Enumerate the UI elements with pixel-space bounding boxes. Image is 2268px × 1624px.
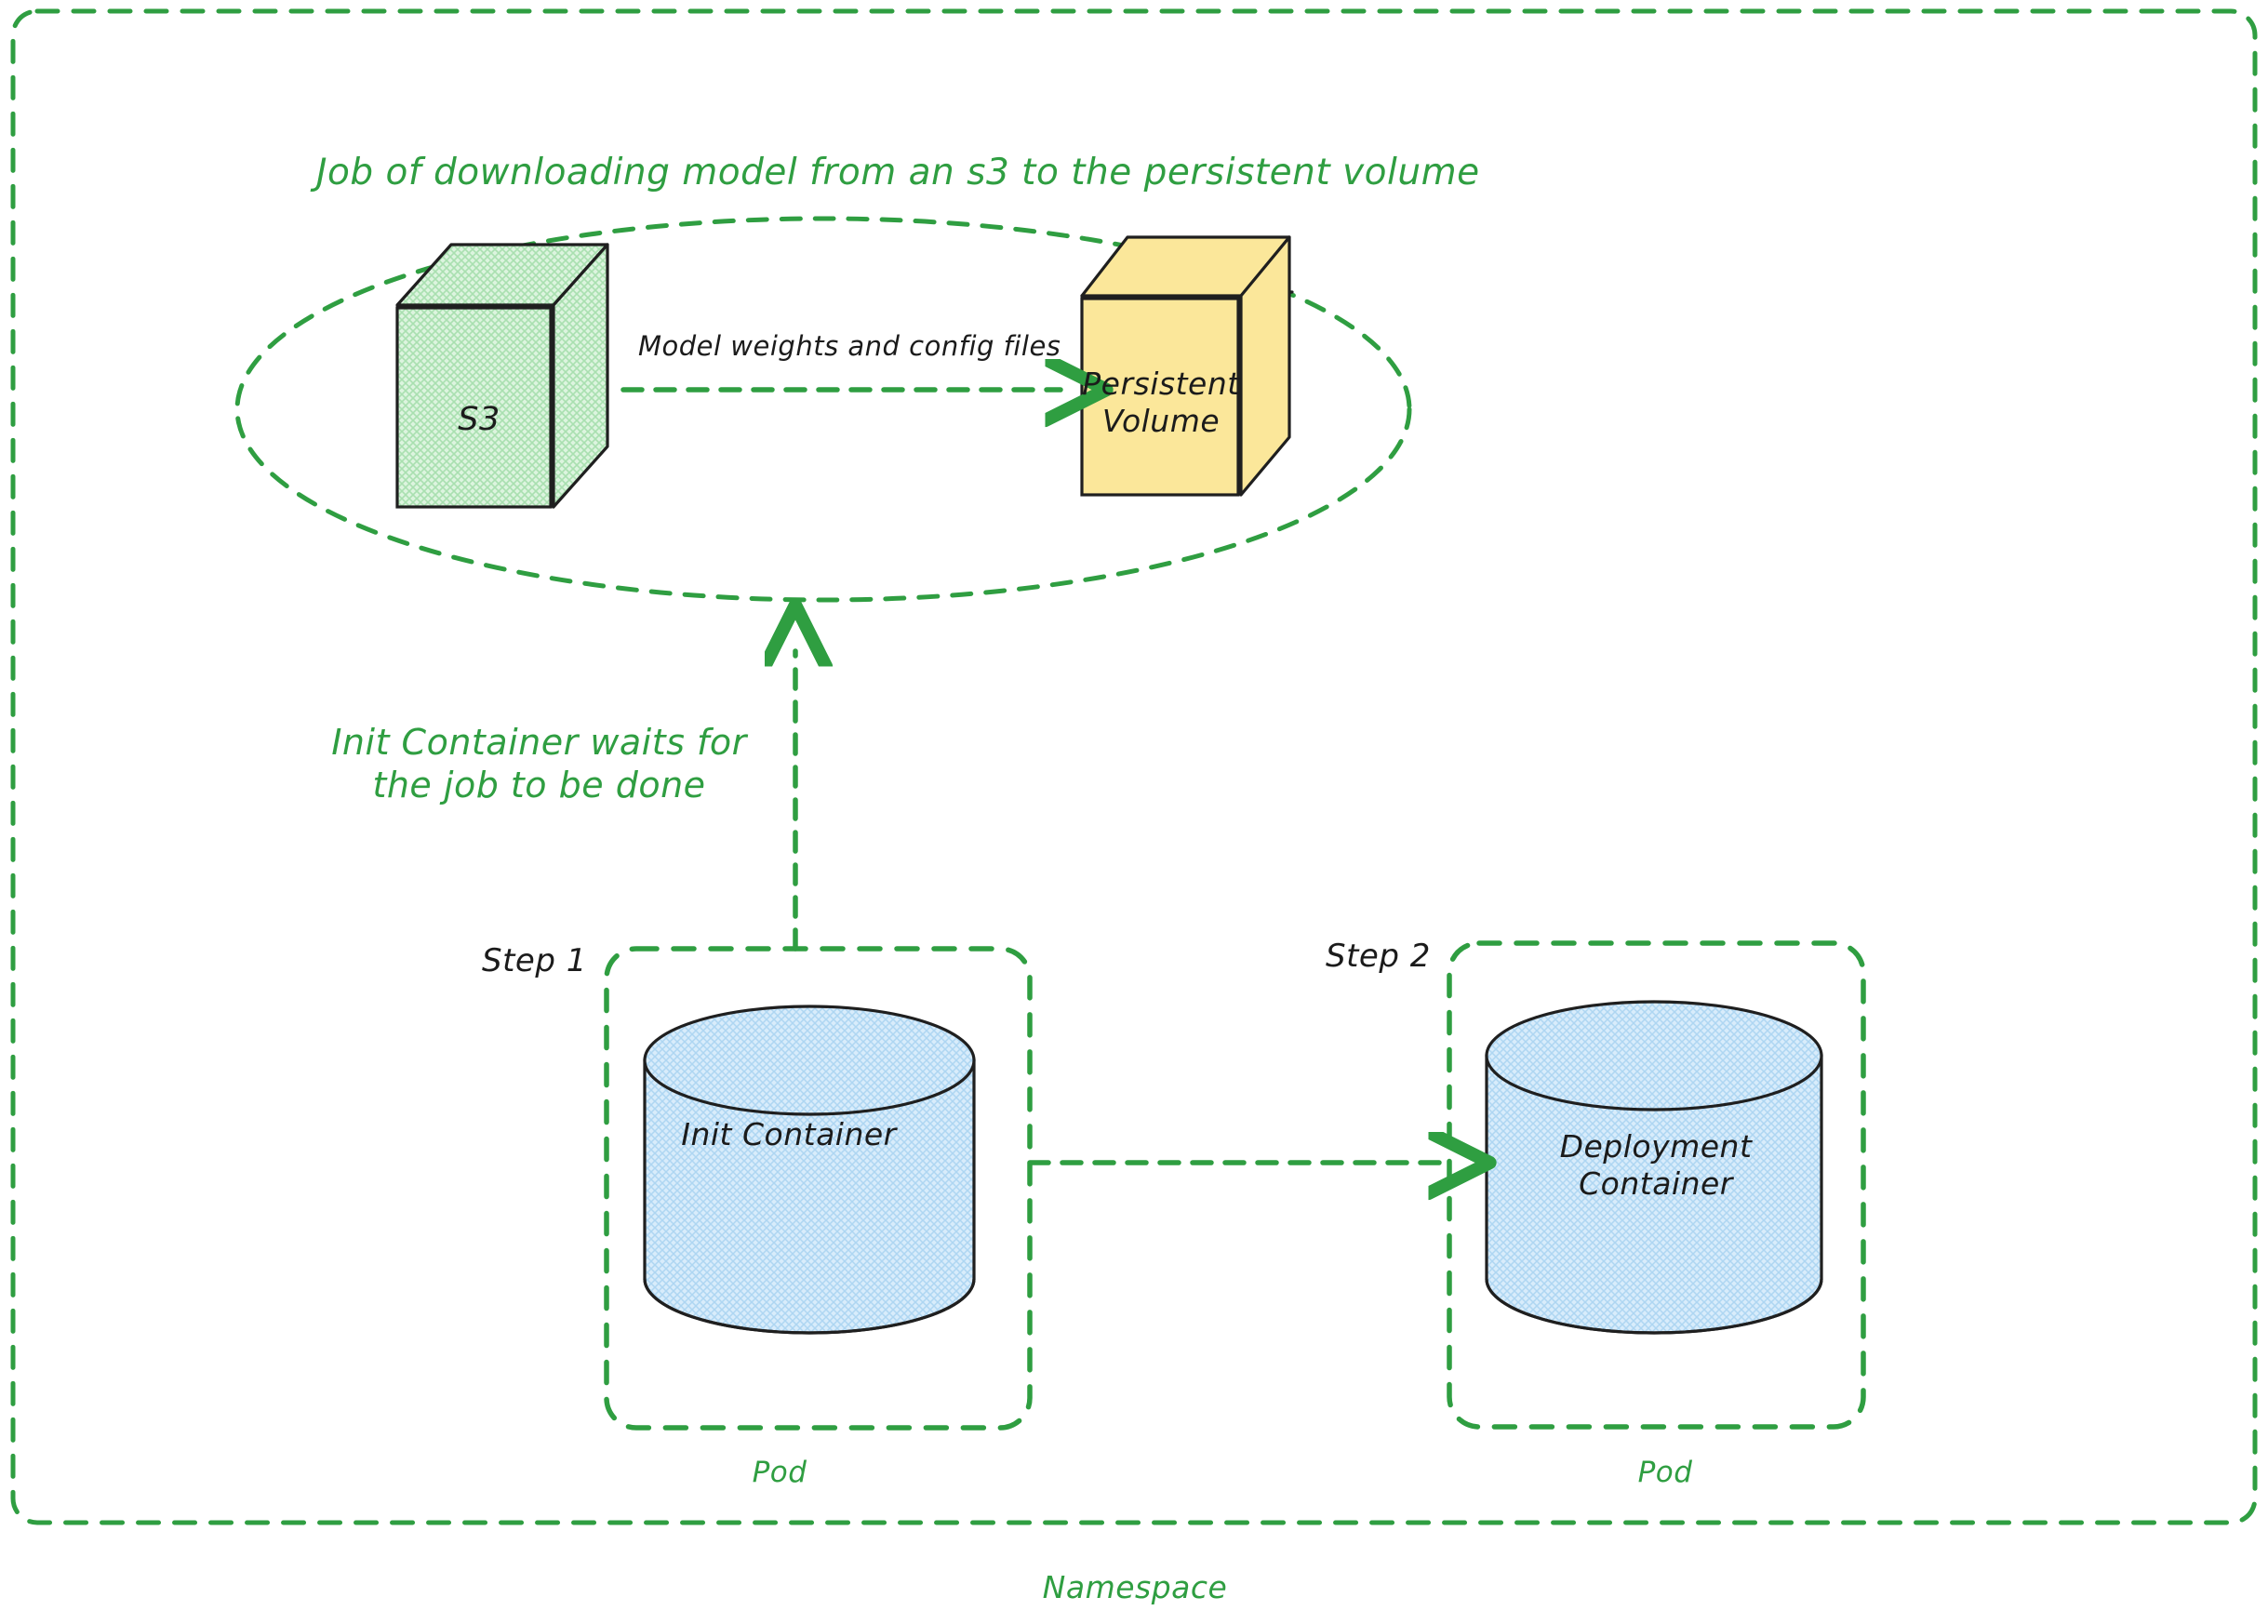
pod-2-label: Pod: [1581, 1456, 1749, 1491]
s3-cube-label: S3: [391, 400, 567, 440]
deployment-label-line-2: Container: [1579, 1165, 1733, 1202]
pv-label-line-1: Persistent: [1082, 366, 1239, 402]
diagram-canvas: Job of downloading model from an s3 to t…: [0, 0, 2268, 1624]
pod-1-boundary: [607, 949, 1030, 1428]
persistent-volume-cube-label: PersistentVolume: [1077, 366, 1245, 441]
edge-label-model-weights: Model weights and config files: [638, 330, 1061, 363]
init-container-wait-note: Init Container waits forthe job to be do…: [290, 721, 788, 807]
namespace-label: Namespace: [986, 1569, 1284, 1606]
step-1-label: Step 1: [482, 942, 587, 980]
pv-label-line-2: Volume: [1102, 403, 1220, 439]
diagram-vector-layer: [0, 0, 2268, 1624]
pod-1-label: Pod: [696, 1456, 863, 1491]
init-container-label: Init Container: [612, 1116, 966, 1153]
wait-note-line-2: the job to be done: [372, 765, 705, 805]
wait-note-line-1: Init Container waits for: [331, 722, 747, 763]
job-group-title: Job of downloading model from an s3 to t…: [316, 151, 1480, 195]
deployment-container-label: DeploymentContainer: [1474, 1128, 1837, 1204]
init-container-cylinder: [645, 1006, 974, 1333]
deployment-label-line-1: Deployment: [1560, 1128, 1753, 1165]
step-2-label: Step 2: [1326, 938, 1431, 976]
s3-cube: [397, 245, 607, 507]
